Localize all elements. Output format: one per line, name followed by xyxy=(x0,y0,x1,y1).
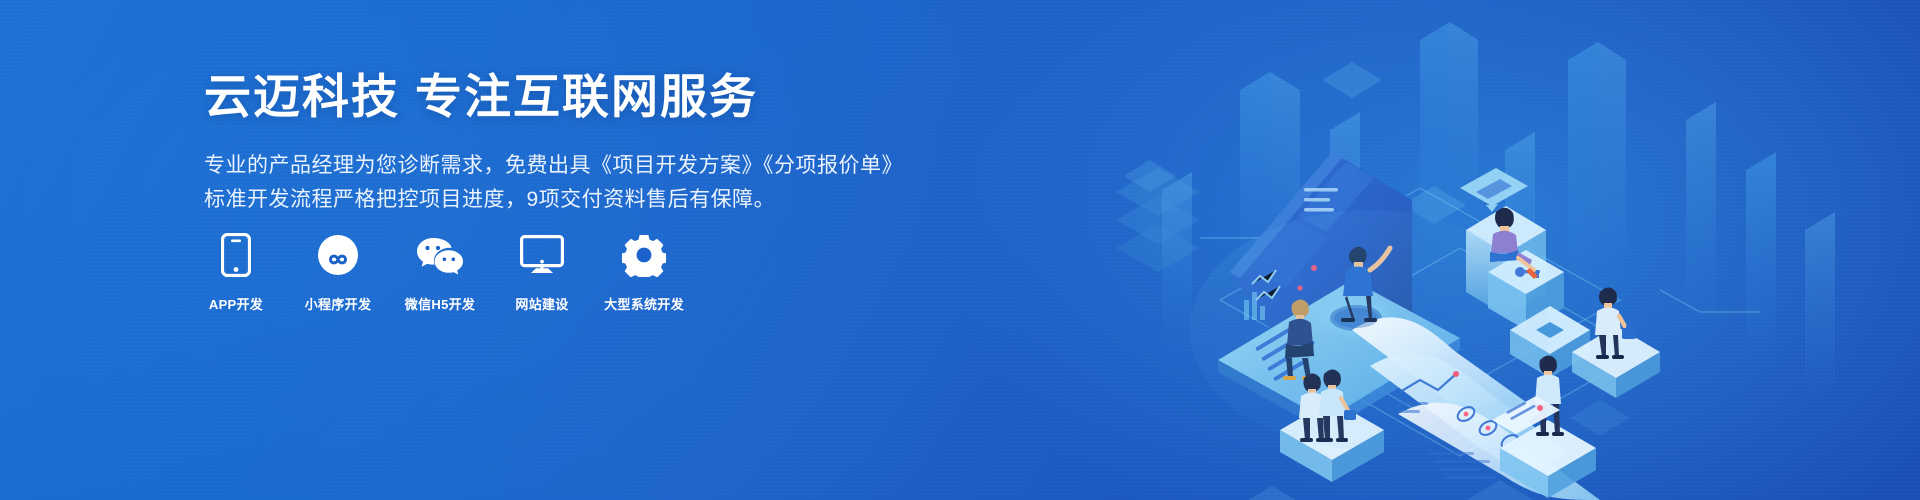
page-title: 云迈科技 专注互联网服务 xyxy=(204,68,904,127)
service-list: APP开发 小程序开发 微信 xyxy=(204,232,676,313)
service-item-system[interactable]: 大型系统开发 xyxy=(612,232,676,313)
banner-subtitle: 专业的产品经理为您诊断需求，免费出具《项目开发方案》《分项报价单》 标准开发流程… xyxy=(204,149,904,217)
service-label: APP开发 xyxy=(209,294,263,313)
service-item-website[interactable]: 网站建设 xyxy=(510,232,574,313)
gear-icon xyxy=(621,232,667,278)
hero-banner: 云迈科技 专注互联网服务 专业的产品经理为您诊断需求，免费出具《项目开发方案》《… xyxy=(0,0,1920,500)
service-label: 网站建设 xyxy=(515,294,568,313)
mini-program-icon xyxy=(315,232,361,278)
service-label: 小程序开发 xyxy=(305,294,372,313)
banner-copy: 云迈科技 专注互联网服务 专业的产品经理为您诊断需求，免费出具《项目开发方案》《… xyxy=(204,68,904,217)
service-label: 微信H5开发 xyxy=(405,294,475,313)
subtitle-line-1: 专业的产品经理为您诊断需求，免费出具《项目开发方案》《分项报价单》 xyxy=(204,149,904,183)
service-item-miniprogram[interactable]: 小程序开发 xyxy=(306,232,370,313)
service-item-app[interactable]: APP开发 xyxy=(204,232,268,313)
wechat-icon xyxy=(417,232,463,278)
service-label: 大型系统开发 xyxy=(604,294,684,313)
subtitle-line-2: 标准开发流程严格把控项目进度，9项交付资料售后有保障。 xyxy=(204,183,904,217)
mobile-phone-icon xyxy=(213,232,259,278)
illustration-isometric-tech xyxy=(900,0,1920,500)
service-item-wechat[interactable]: 微信H5开发 xyxy=(408,232,472,313)
monitor-icon xyxy=(519,232,565,278)
